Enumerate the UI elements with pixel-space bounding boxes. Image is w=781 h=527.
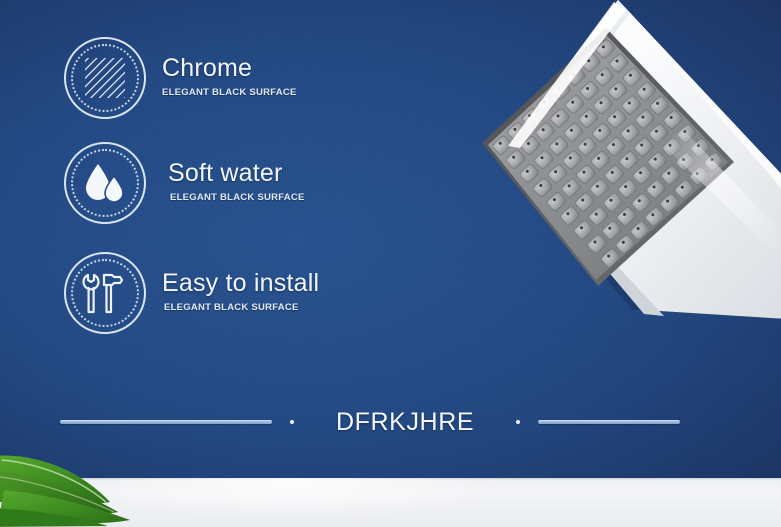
divider-line-right (538, 420, 680, 424)
feature-item-chrome: Chrome ELEGANT BLACK SURFACE (64, 37, 297, 119)
feature-subtitle: ELEGANT BLACK SURFACE (162, 88, 297, 98)
divider-line-left (60, 420, 272, 424)
feature-text-easy-to-install: Easy to install ELEGANT BLACK SURFACE (162, 270, 319, 317)
feature-item-easy-to-install: Easy to install ELEGANT BLACK SURFACE (64, 252, 319, 334)
water-drops-glyph (80, 158, 130, 208)
feature-text-chrome: Chrome ELEGANT BLACK SURFACE (162, 55, 297, 102)
feature-item-soft-water: Soft water ELEGANT BLACK SURFACE (64, 142, 305, 224)
divider-dot-right (516, 420, 520, 424)
feature-subtitle: ELEGANT BLACK SURFACE (162, 303, 319, 313)
water-drops-icon (64, 142, 146, 224)
feature-title: Soft water (168, 160, 305, 186)
hatched-square-icon (64, 37, 146, 119)
hatched-square-glyph (80, 53, 130, 103)
plant-leaves (0, 446, 204, 527)
divider-dot-left (290, 420, 294, 424)
product-feature-banner: Chrome ELEGANT BLACK SURFACE Soft water … (0, 0, 781, 527)
feature-text-soft-water: Soft water ELEGANT BLACK SURFACE (168, 160, 305, 207)
feature-subtitle: ELEGANT BLACK SURFACE (168, 193, 305, 203)
brand-strip: DFRKJHRE (60, 400, 705, 444)
wrench-hammer-icon (64, 252, 146, 334)
feature-title: Chrome (162, 55, 297, 81)
feature-title: Easy to install (162, 270, 319, 296)
wrench-hammer-glyph (80, 268, 130, 318)
brand-name: DFRKJHRE (312, 408, 498, 437)
